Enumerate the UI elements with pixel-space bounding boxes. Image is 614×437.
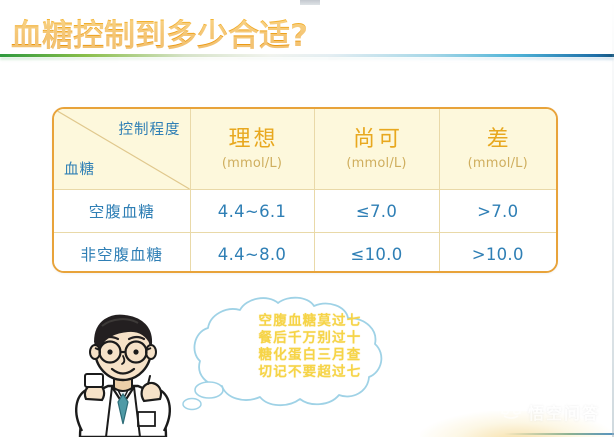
cell-fasting-ideal: 4.4~6.1	[190, 190, 314, 233]
cell-postprandial-acceptable: ≤10.0	[314, 233, 439, 274]
doctor-illustration	[42, 300, 194, 437]
doctor-figure-icon	[42, 300, 194, 437]
header-unit-acceptable: (mmol/L)	[315, 156, 439, 171]
header-unit-poor: (mmol/L)	[440, 156, 557, 171]
page-title: 血糖控制到多少合适?	[11, 10, 308, 55]
cell-value: ≤10.0	[350, 245, 402, 264]
watermark-text: 悟空问答	[528, 400, 600, 424]
glucose-control-table: 控制程度 血糖 理想 (mmol/L) 尚可 (mmol/L) 差 (mmol/…	[52, 107, 558, 273]
table-header-poor: 差 (mmol/L)	[439, 109, 556, 190]
row-label-fasting: 空腹血糖	[54, 190, 190, 233]
table-header-ideal: 理想 (mmol/L)	[190, 109, 314, 190]
thought-bubble-text: 空腹血糖莫过七 餐后千万别过十 糖化蛋白三月查 切记不要超过七	[236, 313, 384, 381]
table-header-row: 控制程度 血糖 理想 (mmol/L) 尚可 (mmol/L) 差 (mmol/…	[54, 109, 556, 190]
table-row: 空腹血糖 4.4~6.1 ≤7.0 >7.0	[54, 190, 556, 233]
cell-fasting-poor: >7.0	[439, 190, 556, 233]
table-header-acceptable: 尚可 (mmol/L)	[314, 109, 439, 190]
header-unit-ideal: (mmol/L)	[191, 156, 314, 171]
cell-value: 4.4~6.1	[218, 202, 286, 221]
header-title-acceptable: 尚可	[315, 127, 439, 152]
corner-bottom-label: 血糖	[64, 158, 95, 179]
cell-value: ≤7.0	[356, 202, 397, 221]
bubble-line-3: 糖化蛋白三月查	[236, 347, 384, 364]
slide-title-bar: 血糖控制到多少合适?	[0, 0, 614, 57]
watermark: 悟空问答	[500, 400, 600, 424]
title-divider-glow	[0, 57, 614, 60]
cell-value: 4.4~8.0	[218, 245, 286, 264]
bubble-line-4: 切记不要超过七	[236, 364, 384, 381]
wukong-logo-icon	[500, 404, 522, 420]
table-corner-cell: 控制程度 血糖	[54, 109, 190, 190]
header-title-ideal: 理想	[191, 127, 314, 152]
cell-postprandial-ideal: 4.4~8.0	[190, 233, 314, 274]
cell-fasting-acceptable: ≤7.0	[314, 190, 439, 233]
header-title-poor: 差	[440, 127, 557, 152]
row-label-text: 非空腹血糖	[80, 246, 163, 264]
bottom-accent-rule	[504, 433, 614, 435]
cell-postprandial-poor: >10.0	[439, 233, 556, 274]
table-row: 非空腹血糖 4.4~8.0 ≤10.0 >10.0	[54, 233, 556, 274]
thought-bubble: 空腹血糖莫过七 餐后千万别过十 糖化蛋白三月查 切记不要超过七	[176, 296, 388, 417]
cell-value: >7.0	[477, 202, 518, 221]
row-label-text: 空腹血糖	[89, 203, 155, 221]
row-label-postprandial: 非空腹血糖	[54, 233, 190, 274]
corner-top-label: 控制程度	[119, 118, 181, 139]
bubble-line-2: 餐后千万别过十	[236, 330, 384, 347]
cell-value: >10.0	[472, 245, 524, 264]
bubble-line-1: 空腹血糖莫过七	[236, 313, 384, 330]
